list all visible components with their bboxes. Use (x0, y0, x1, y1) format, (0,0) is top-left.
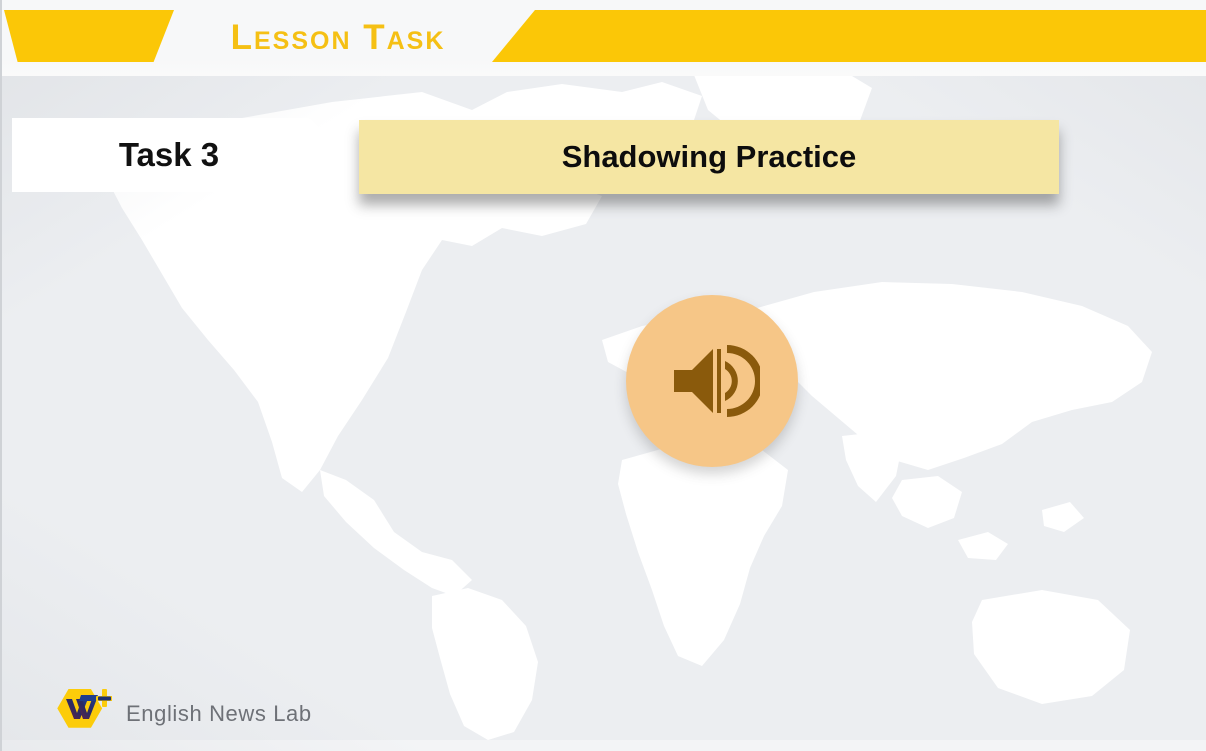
brand-logo: English News Lab (46, 683, 312, 745)
header-accent-shape-right (492, 10, 1206, 62)
task-number-badge: Task 3 (12, 118, 350, 192)
task-title-label: Shadowing Practice (562, 139, 857, 175)
audio-play-button[interactable] (626, 295, 798, 467)
speaker-volume-icon (664, 333, 760, 429)
header-title: Lesson Task (188, 14, 488, 62)
header-accent-shape-left (4, 10, 174, 62)
brand-hexagon-icon (46, 683, 112, 745)
world-map-background (2, 0, 1206, 751)
task-title-banner: Shadowing Practice (359, 120, 1059, 194)
brand-name-label: English News Lab (126, 701, 312, 727)
header-band: Lesson Task (2, 0, 1206, 76)
task-number-label: Task 3 (119, 136, 243, 174)
slide-canvas: Lesson Task Task 3 Shadowing Practice (0, 0, 1206, 751)
